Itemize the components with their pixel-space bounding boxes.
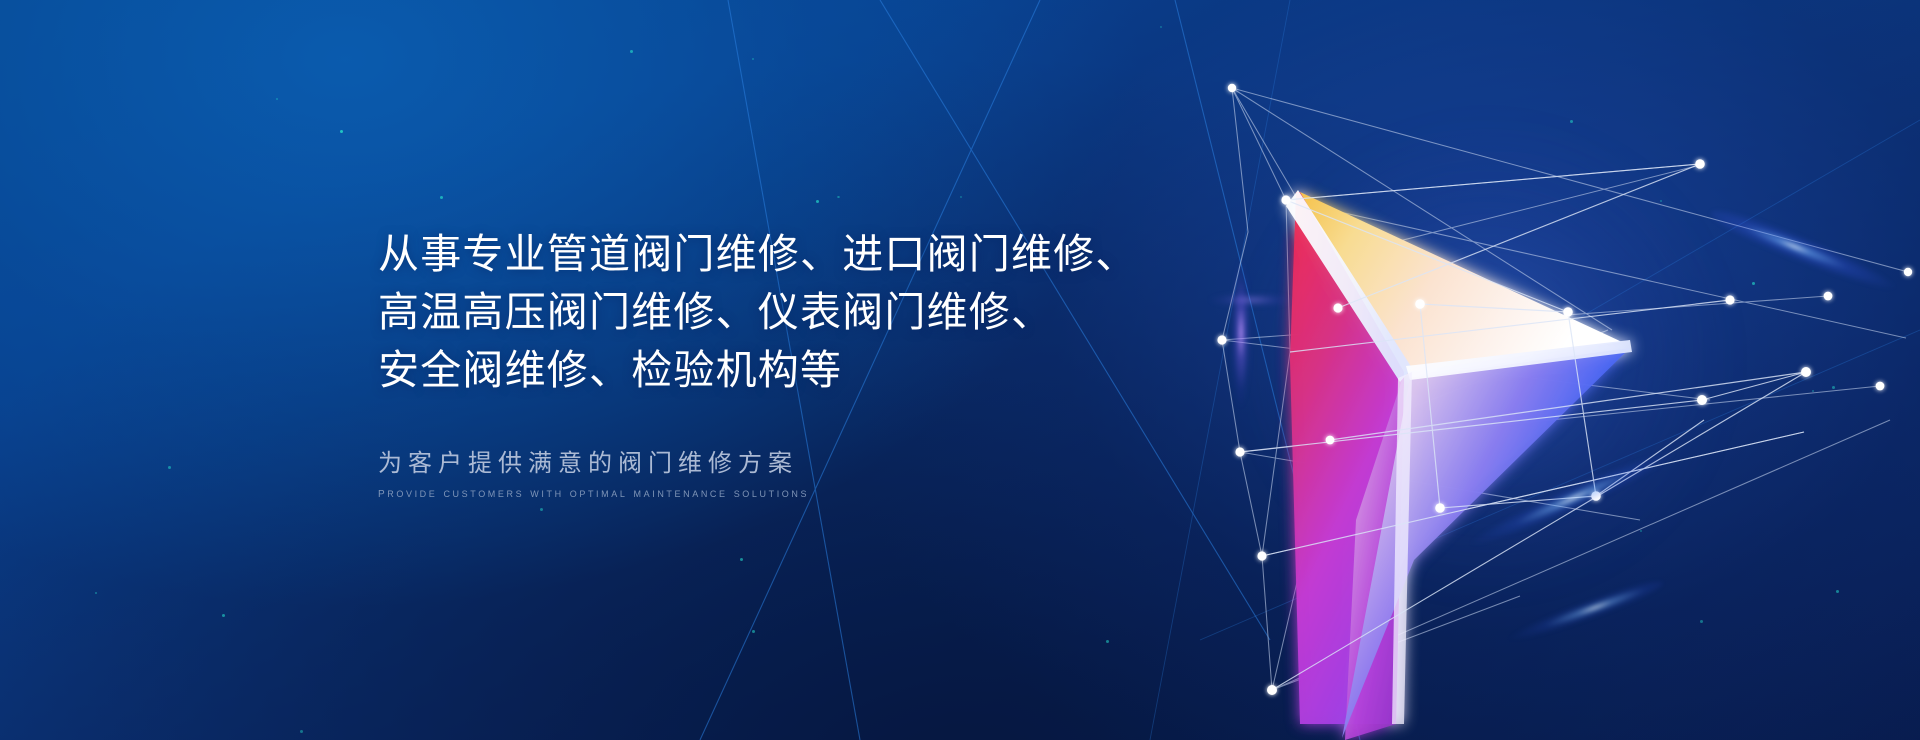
- blue-lens-flare-bottom: [1433, 572, 1667, 677]
- ambient-glow: [1180, 60, 1820, 680]
- blue-lens-flare-lower: [1397, 438, 1683, 587]
- subtitle-english: Provide customers with optimal maintenan…: [378, 483, 1138, 503]
- purple-flare-streak: [1196, 292, 1306, 308]
- hero-banner: 从事专业管道阀门维修、进口阀门维修、 高温高压阀门维修、仪表阀门维修、 安全阀维…: [0, 0, 1920, 740]
- subtitle-chinese: 为客户提供满意的阀门维修方案: [378, 447, 1138, 481]
- purple-lens-flare: [1228, 238, 1254, 428]
- headline-line-1: 从事专业管道阀门维修、进口阀门维修、: [378, 225, 1138, 283]
- network-lines-front: [1240, 164, 1806, 690]
- prism-arrow: [1286, 190, 1632, 740]
- headline-line-3: 安全阀维修、检验机构等: [378, 341, 1138, 399]
- network-lines-back: [1222, 88, 1908, 690]
- banner-copy: 从事专业管道阀门维修、进口阀门维修、 高温高压阀门维修、仪表阀门维修、 安全阀维…: [378, 225, 1138, 503]
- subtitle-block: 为客户提供满意的阀门维修方案 Provide customers with op…: [378, 447, 1138, 503]
- network-nodes: [1217, 84, 1912, 695]
- headline-line-2: 高温高压阀门维修、仪表阀门维修、: [378, 283, 1138, 341]
- blue-lens-flare-right: [1705, 197, 1920, 341]
